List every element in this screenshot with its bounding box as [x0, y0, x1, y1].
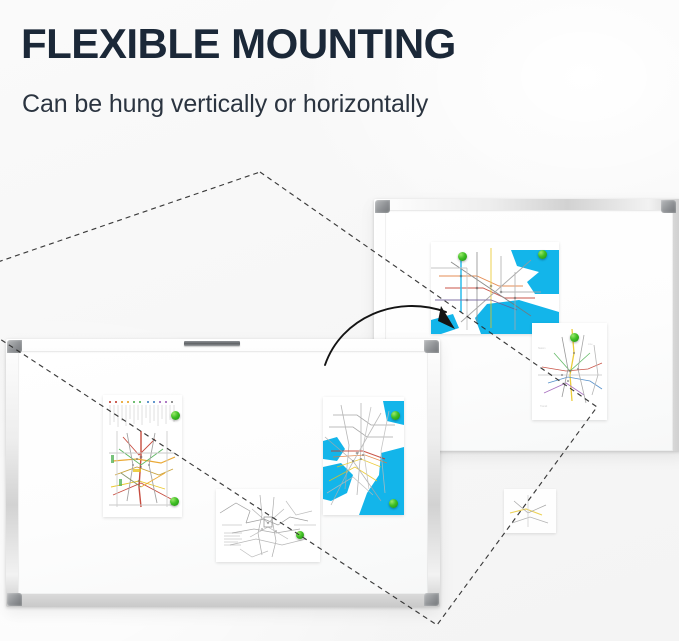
- svg-text:Line: Line: [588, 343, 593, 346]
- magnet-pin: [170, 497, 179, 506]
- poster-city-street: [216, 489, 320, 562]
- corner-bracket-bottom-left: [7, 593, 22, 606]
- magnet-pin: [171, 411, 180, 420]
- corner-bracket-bottom-right: [424, 593, 439, 606]
- magnet-pin: [458, 252, 467, 261]
- corner-bracket-top-right: [661, 200, 676, 213]
- corner-bracket-top-left: [375, 200, 390, 213]
- poster-small-transit: [504, 489, 556, 533]
- svg-text:Station: Station: [538, 347, 546, 350]
- svg-text:Transit: Transit: [540, 405, 548, 408]
- magnet-pin: [296, 531, 304, 539]
- page-subtitle: Can be hung vertically or horizontally: [22, 90, 428, 119]
- horizontal-board[interactable]: [6, 339, 440, 607]
- corner-bracket-top-left: [7, 340, 22, 353]
- magnet-pin: [538, 250, 547, 259]
- magnet-pin: [389, 499, 398, 508]
- wall-mount-bracket: [184, 341, 240, 346]
- page-title: FLEXIBLE MOUNTING: [21, 22, 456, 66]
- magnet-pin: [391, 411, 400, 420]
- key-lock[interactable]: [202, 586, 224, 616]
- corner-bracket-top-right: [424, 340, 439, 353]
- marketing-image-canvas: FLEXIBLE MOUNTING Can be hung vertically…: [0, 0, 679, 641]
- key-lock[interactable]: [632, 392, 654, 422]
- magnet-pin: [570, 333, 579, 342]
